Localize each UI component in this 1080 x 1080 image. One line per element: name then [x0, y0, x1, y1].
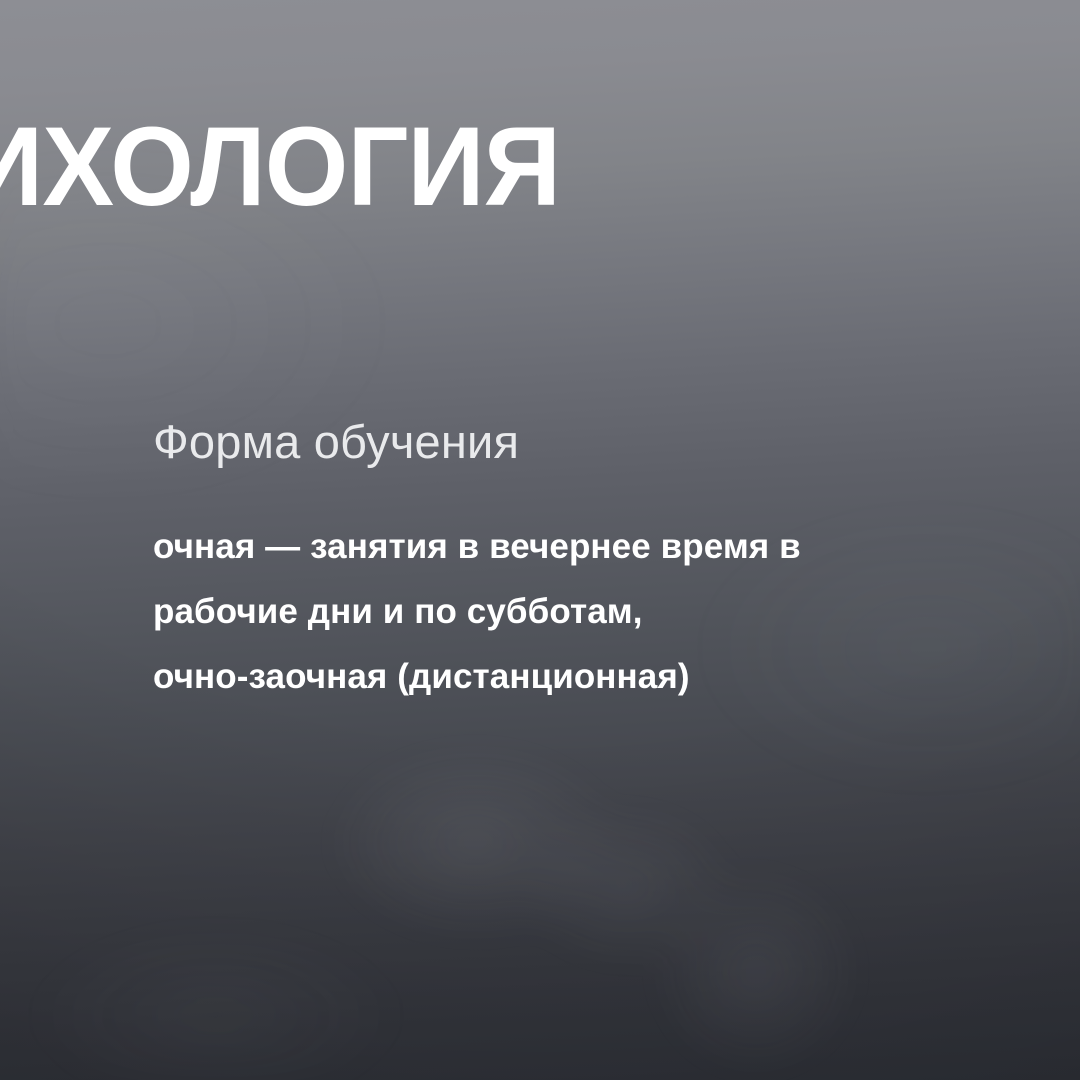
slide-subtitle: Форма обучения: [153, 414, 1033, 470]
slide-body-list: очная — занятия в вечернее время в рабоч…: [153, 514, 1033, 709]
slide-title-container: ИХОЛОГИЯ: [0, 108, 1080, 238]
slide-content: Форма обучения очная — занятия в вечерне…: [153, 414, 1033, 709]
slide-body-line: рабочие дни и по субботам,: [153, 579, 1033, 644]
slide-title: ИХОЛОГИЯ: [0, 108, 560, 226]
slide-body-line: очно-заочная (дистанционная): [153, 644, 1033, 709]
slide-body-line: очная — занятия в вечернее время в: [153, 514, 1033, 579]
presentation-slide: ИХОЛОГИЯ Форма обучения очная — занятия …: [0, 0, 1080, 1080]
